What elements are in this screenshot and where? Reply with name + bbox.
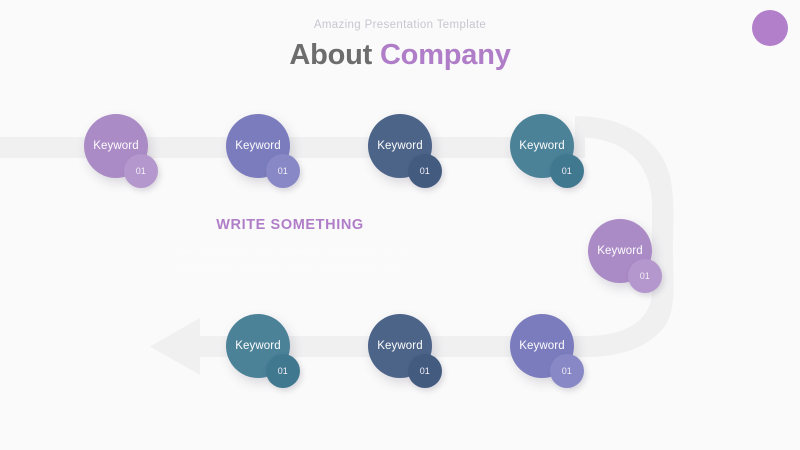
center-text-block: WRITE SOMETHING Lorem ipsum dolor sit am…: [130, 216, 450, 274]
slide-title-primary: About: [289, 39, 372, 71]
slide-header: Amazing Presentation Template About Comp…: [0, 18, 800, 72]
keyword-badge-7[interactable]: 01: [408, 354, 442, 388]
corner-dot-icon: [752, 10, 788, 46]
center-text-body-line-1: Lorem ipsum dolor sit amet, consectetur …: [130, 244, 450, 259]
keyword-badge-8[interactable]: 01: [550, 354, 584, 388]
center-text-heading: WRITE SOMETHING: [130, 216, 450, 234]
keyword-badge-5[interactable]: 01: [628, 259, 662, 293]
slide-canvas: Amazing Presentation Template About Comp…: [0, 0, 800, 450]
keyword-badge-6[interactable]: 01: [266, 354, 300, 388]
center-text-body-line-2: eiusmod tempor incididunt ut labore et d…: [130, 259, 450, 274]
keyword-badge-4[interactable]: 01: [550, 154, 584, 188]
keyword-badge-2[interactable]: 01: [266, 154, 300, 188]
center-text-body: Lorem ipsum dolor sit amet, consectetur …: [130, 244, 450, 274]
slide-title-accent: Company: [380, 39, 511, 71]
keyword-badge-3[interactable]: 01: [408, 154, 442, 188]
keyword-badge-1[interactable]: 01: [124, 154, 158, 188]
ribbon-left-arrowhead: [150, 318, 200, 375]
slide-subtitle: Amazing Presentation Template: [0, 18, 800, 32]
slide-title: About Company: [0, 38, 800, 72]
